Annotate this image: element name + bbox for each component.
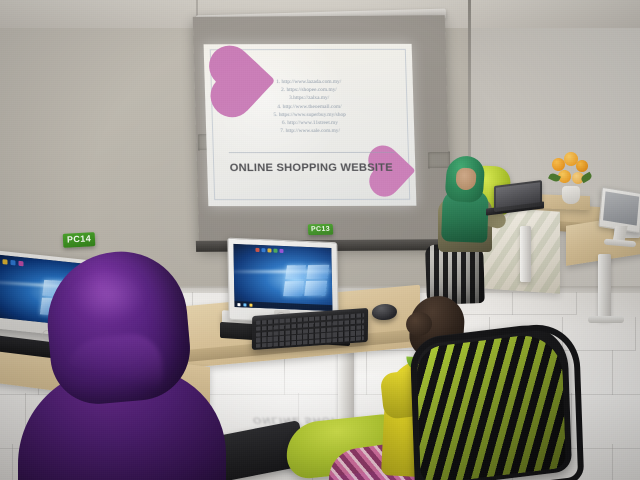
desktop-icon[interactable] bbox=[273, 249, 277, 253]
slide-url-item: 6. http://www.11street.my bbox=[214, 119, 406, 128]
slide-url-item: 2. https://shopee.com.my/ bbox=[213, 86, 405, 95]
keyboard-keys[interactable] bbox=[256, 313, 364, 345]
desk-leg bbox=[598, 254, 611, 320]
slide-heading: ONLINE SHOPPING WEBSITE bbox=[207, 162, 415, 174]
right-monitor bbox=[600, 190, 640, 252]
pc-tag-left: PC14 bbox=[63, 232, 96, 247]
slide-url-item: 7. http://www.sale.com.my/ bbox=[214, 127, 406, 136]
chair-mesh-black-green[interactable] bbox=[404, 330, 576, 480]
slide-url-item: 3.https://zalxa.my/ bbox=[213, 94, 405, 103]
desktop-icon[interactable] bbox=[2, 259, 7, 265]
person-teacher-green-hijab bbox=[432, 156, 516, 304]
monitor-screen bbox=[603, 191, 639, 225]
flower-arrangement bbox=[548, 152, 594, 204]
vase bbox=[562, 186, 580, 204]
slide-url-item: 5. https://www.superbuy.my/shop bbox=[214, 111, 406, 120]
projected-slide: 1. http://www.lazada.com.my/2. https://s… bbox=[204, 44, 417, 206]
taskbar-icon[interactable] bbox=[249, 303, 252, 306]
slide-url-list: 1. http://www.lazada.com.my/2. https://s… bbox=[213, 78, 407, 136]
desktop-icon[interactable] bbox=[261, 248, 265, 252]
floor-tile bbox=[612, 350, 640, 395]
desk-leg bbox=[520, 226, 531, 282]
monitor-foot bbox=[604, 239, 636, 248]
person-student-purple-hijab bbox=[18, 250, 228, 480]
floor-tile bbox=[612, 444, 640, 480]
desktop-icon[interactable] bbox=[255, 248, 259, 252]
desktop-icon[interactable] bbox=[10, 260, 15, 266]
taskbar-icon[interactable] bbox=[237, 303, 240, 306]
chair-frame bbox=[410, 319, 584, 480]
desktop-icon[interactable] bbox=[279, 249, 283, 253]
floor-tile bbox=[512, 292, 577, 315]
teacher-laptop-screen bbox=[496, 182, 540, 207]
hijab-highlight bbox=[72, 268, 146, 322]
taskbar-icon[interactable] bbox=[243, 303, 246, 306]
classroom-photo: ONLINE SHOPPING 1. http://www.lazada.com… bbox=[0, 0, 640, 480]
flower-bloom bbox=[576, 160, 588, 172]
teacher-laptop[interactable] bbox=[486, 183, 542, 215]
windows-logo-icon bbox=[283, 265, 332, 299]
pc-tag-center: PC13 bbox=[308, 224, 334, 235]
laptop-screen-windows10[interactable] bbox=[233, 244, 332, 311]
desktop-icon[interactable] bbox=[267, 248, 271, 252]
desk-foot bbox=[588, 316, 624, 323]
slide-url-item: 1. http://www.lazada.com.my/ bbox=[213, 78, 405, 87]
